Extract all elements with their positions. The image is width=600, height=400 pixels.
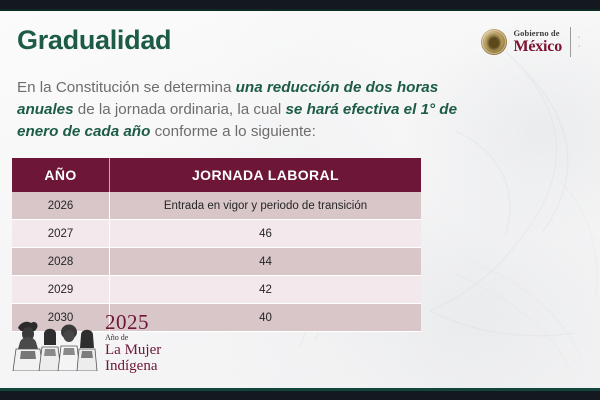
- table-body: 2026 Entrada en vigor y periodo de trans…: [12, 192, 421, 332]
- page-title: Gradualidad: [17, 25, 171, 56]
- gradualidad-table: AÑO JORNADA LABORAL 2026 Entrada en vigo…: [12, 158, 421, 332]
- cell-jornada: Entrada en vigor y periodo de transición: [110, 192, 422, 220]
- gobierno-de-mexico-logo: Gobierno de México · ·: [481, 24, 588, 60]
- presentation-slide: Gradualidad Gobierno de México · · En la…: [0, 0, 600, 400]
- cell-year: 2028: [12, 248, 110, 276]
- gobierno-line2: México: [513, 39, 562, 55]
- cell-year: 2026: [12, 192, 110, 220]
- table-header-row: AÑO JORNADA LABORAL: [12, 158, 421, 192]
- logo-secondary-text: · ·: [578, 33, 588, 52]
- mujer-indigena-wordmark: 2025 Año de La Mujer Indígena: [105, 312, 161, 374]
- table-row: 2027 46: [12, 220, 421, 248]
- table-row: 2026 Entrada en vigor y periodo de trans…: [12, 192, 421, 220]
- gobierno-wordmark: Gobierno de México: [513, 29, 562, 55]
- cell-year: 2029: [12, 276, 110, 304]
- logo-year: 2025: [105, 312, 161, 333]
- paragraph-segment-2: de la jornada ordinaria, la cual: [74, 101, 286, 118]
- indigenous-women-illustration-icon: [12, 315, 100, 371]
- logo-line2: Indígena: [105, 359, 161, 374]
- cell-jornada: 46: [110, 220, 422, 248]
- logo-divider: [570, 27, 571, 57]
- logo-tail-line2: ·: [578, 42, 588, 51]
- table-row: 2028 44: [12, 248, 421, 276]
- table-row: 2029 42: [12, 276, 421, 304]
- logo-anio-de: Año de: [105, 334, 161, 342]
- gobierno-line1: Gobierno de: [513, 29, 562, 38]
- mexican-eagle-seal-icon: [481, 29, 507, 55]
- intro-paragraph: En la Constitución se determina una redu…: [17, 77, 485, 143]
- paragraph-segment-3: conforme a lo siguiente:: [150, 123, 315, 140]
- mujer-indigena-logo: 2025 Año de La Mujer Indígena: [12, 314, 161, 372]
- cell-jornada: 42: [110, 276, 422, 304]
- bottom-chrome-bar: [0, 391, 600, 400]
- cell-jornada: 44: [110, 248, 422, 276]
- logo-line1: La Mujer: [105, 343, 161, 358]
- top-chrome-bar: [0, 0, 600, 9]
- slide-canvas: Gradualidad Gobierno de México · · En la…: [0, 11, 600, 388]
- cell-year: 2027: [12, 220, 110, 248]
- paragraph-segment-1: En la Constitución se determina: [17, 79, 236, 96]
- column-header-anio: AÑO: [12, 158, 110, 192]
- column-header-jornada-laboral: JORNADA LABORAL: [110, 158, 422, 192]
- logo-tail-line1: ·: [578, 33, 588, 42]
